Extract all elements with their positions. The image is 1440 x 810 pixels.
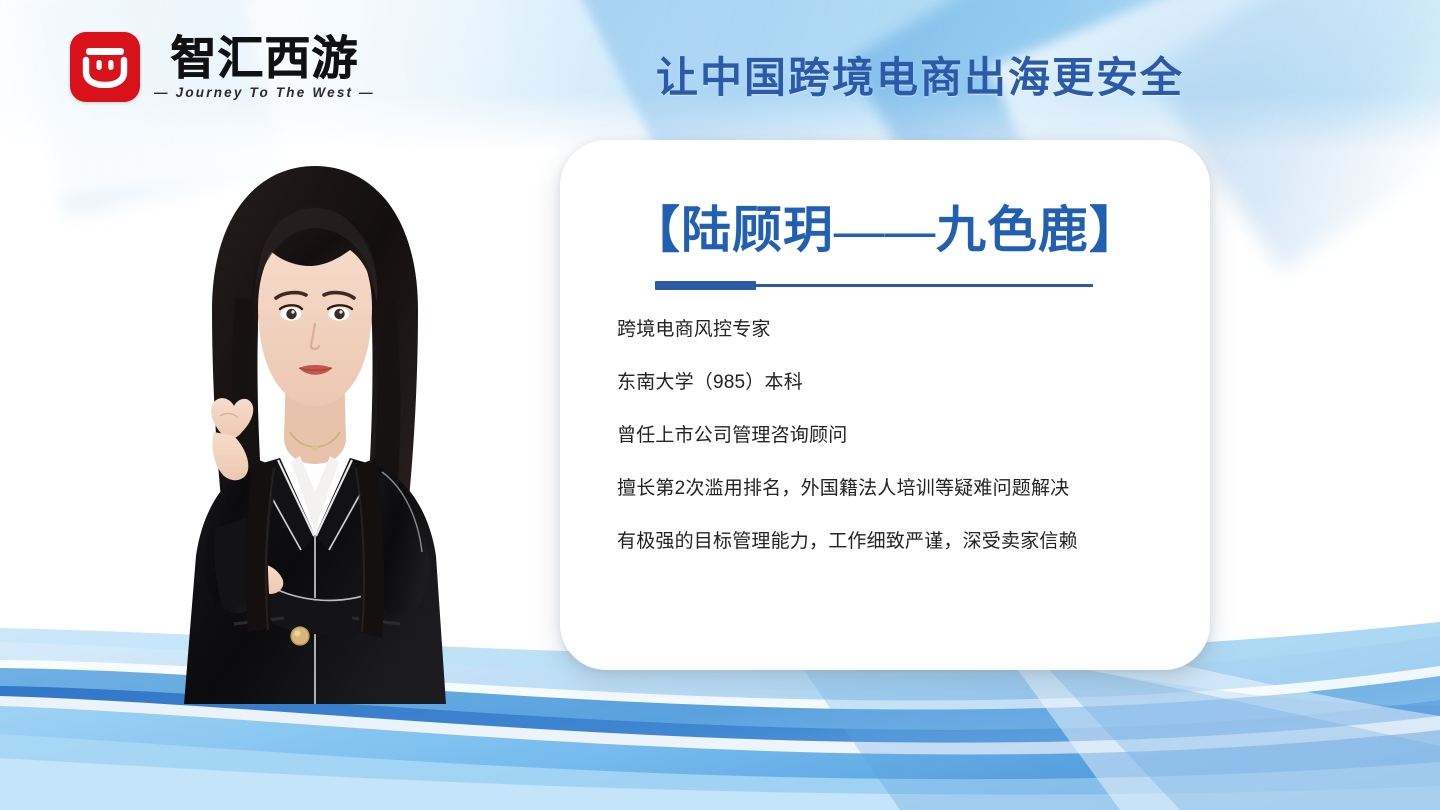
list-item: 东南大学（985）本科 — [617, 373, 1177, 426]
brand-wordmark: 智汇西游 — Journey To The West — — [154, 35, 375, 100]
title-divider — [655, 281, 1093, 290]
brand-name-cn: 智汇西游 — [170, 35, 358, 81]
list-item: 擅长第2次滥用排名，外国籍法人培训等疑难问题解决 — [617, 479, 1177, 532]
zhihui-xiyou-smile-logo-icon — [70, 32, 140, 102]
brand-name-en: — Journey To The West — — [154, 86, 375, 100]
list-item: 曾任上市公司管理咨询顾问 — [617, 426, 1177, 479]
brand-logo[interactable]: 智汇西游 — Journey To The West — — [70, 32, 375, 102]
title-divider-thick-segment — [655, 281, 756, 290]
list-item: 跨境电商风控专家 — [617, 320, 1177, 373]
header-tagline: 让中国跨境电商出海更安全 — [620, 44, 1220, 105]
speaker-portrait-photo — [150, 132, 480, 722]
page-title: 【陆顾玥——九色鹿】 — [560, 190, 1210, 262]
title-divider-thin-segment — [756, 284, 1093, 287]
presentation-slide: 智汇西游 — Journey To The West — 让中国跨境电商出海更安… — [0, 0, 1440, 810]
bio-bullet-list: 跨境电商风控专家 东南大学（985）本科 曾任上市公司管理咨询顾问 擅长第2次滥… — [617, 320, 1177, 585]
list-item: 有极强的目标管理能力，工作细致严谨，深受卖家信赖 — [617, 532, 1177, 585]
